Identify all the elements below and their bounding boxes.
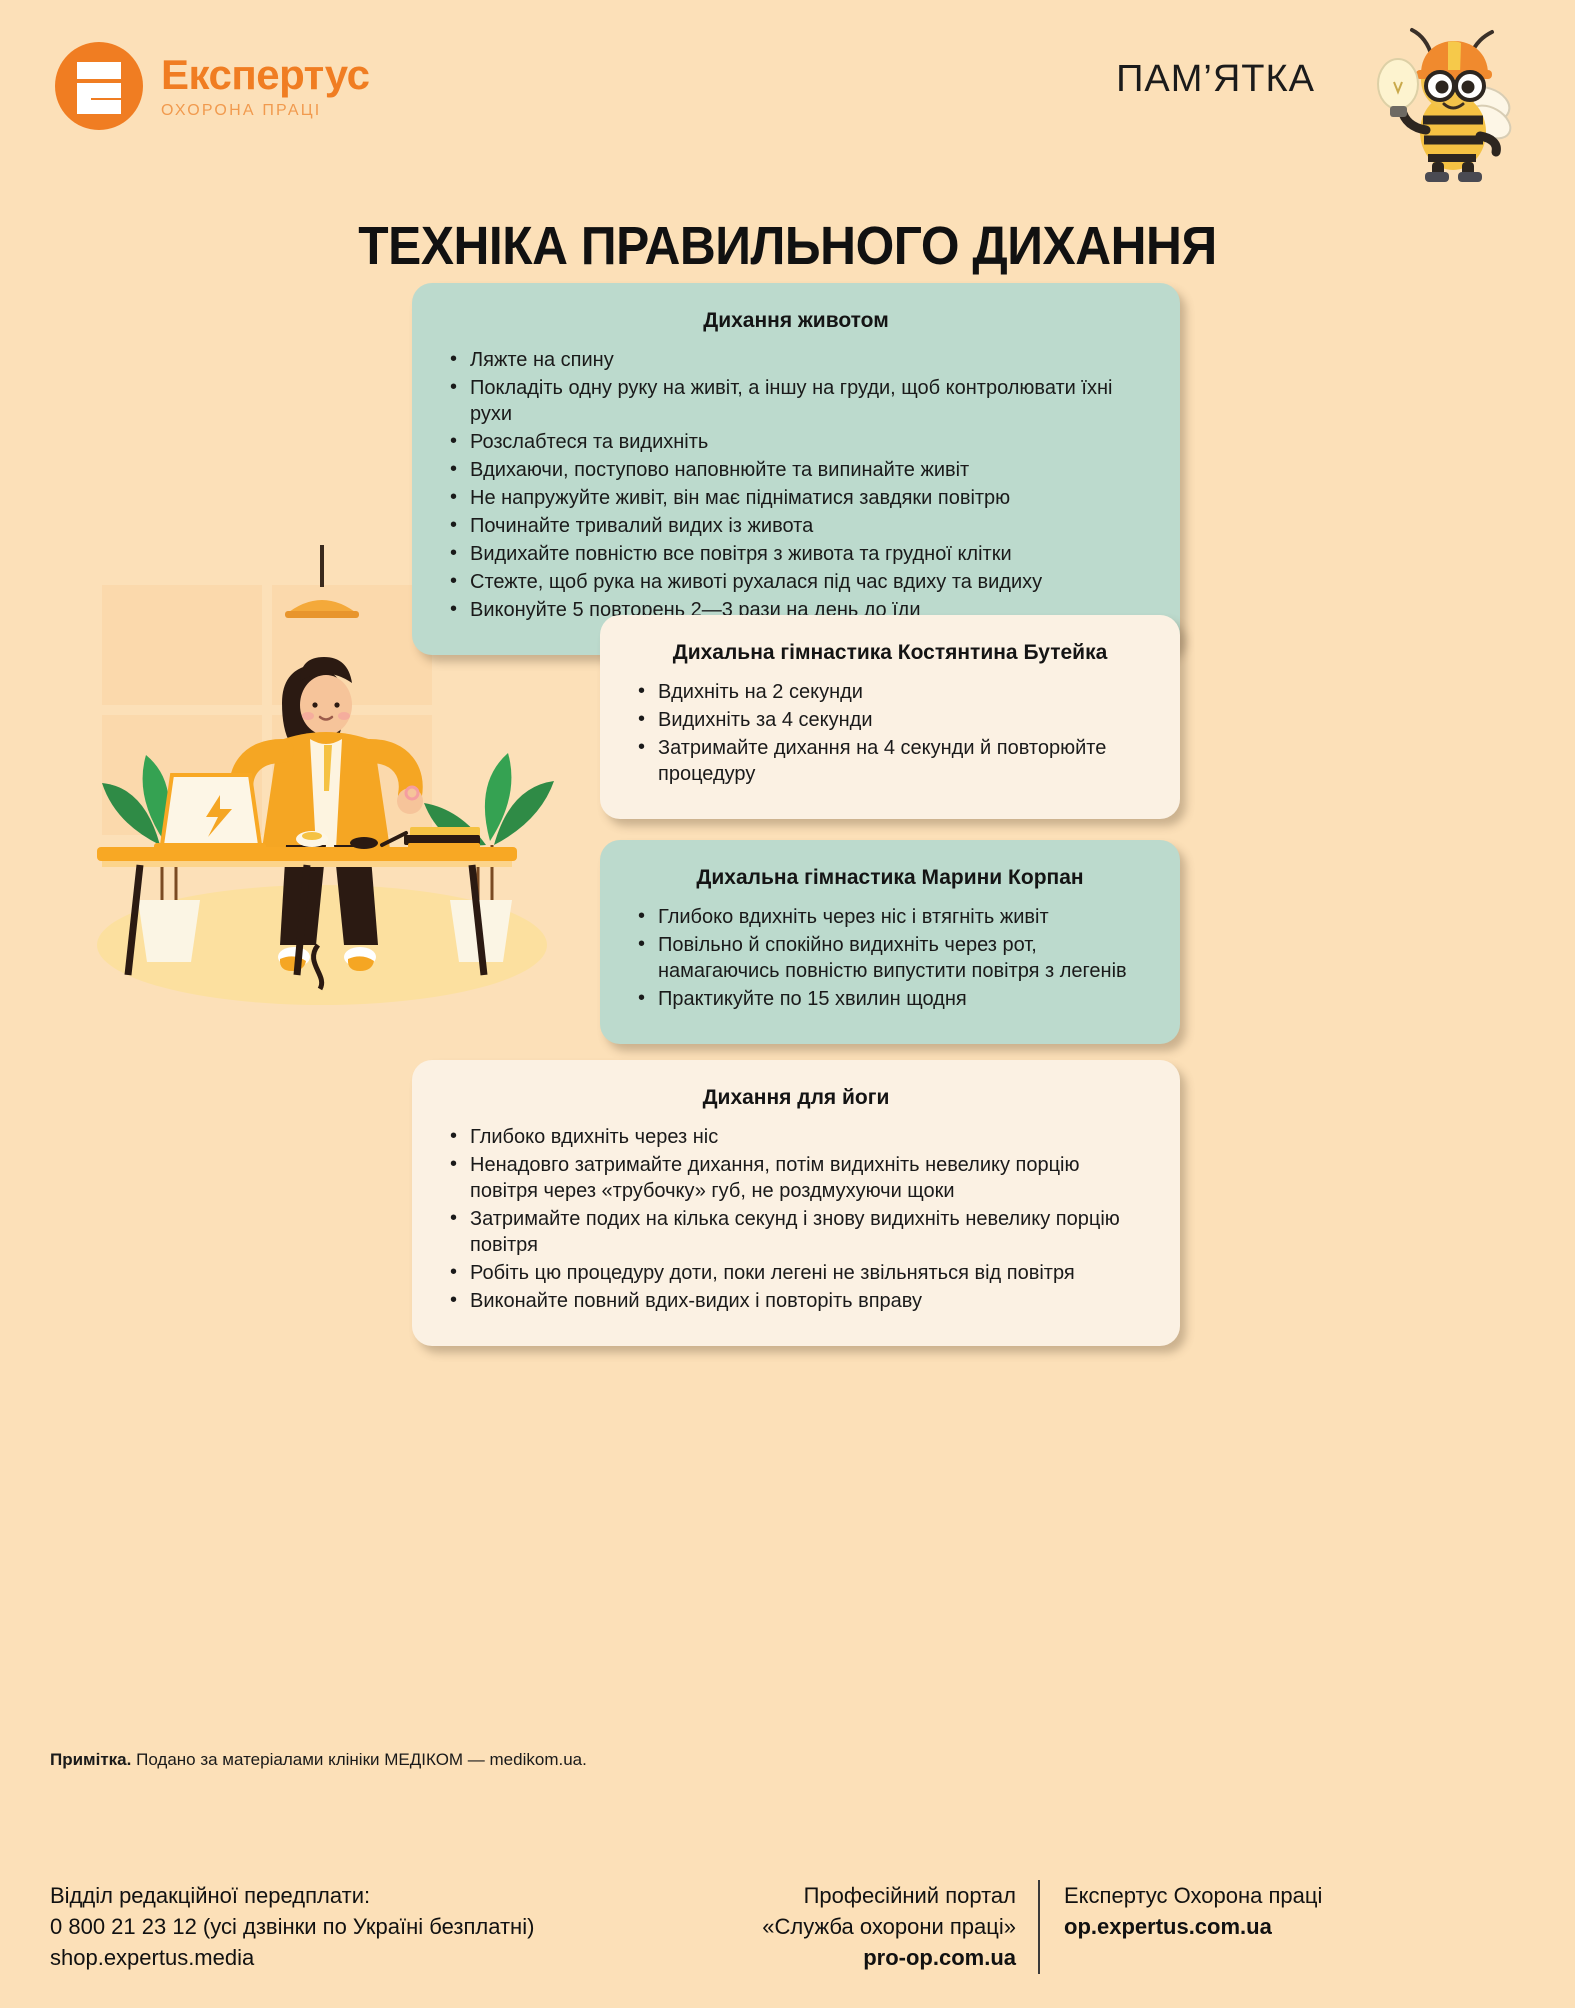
card-heading: Дихальна гімнастика Марини Корпан [634,866,1146,890]
portal-name: «Служба охорони праці» [750,1911,1016,1942]
footer-subscription-column: Відділ редакційної передплати: 0 800 21 … [50,1880,750,1974]
card-heading: Дихальна гімнастика Костянтина Бутейка [634,641,1146,665]
portal-site[interactable]: pro-op.com.ua [750,1942,1016,1973]
list-item: Видихайте повністю все повітря з живота … [446,541,1146,567]
card-bullet-list: Глибоко вдихніть через ніс і втягніть жи… [634,904,1146,1012]
brand-tagline: ОХОРОНА ПРАЦІ [161,103,369,119]
list-item: Практикуйте по 15 хвилин щодня [634,986,1146,1012]
list-item: Затримайте подих на кілька секунд і знов… [446,1206,1146,1258]
list-item: Ненадовго затримайте дихання, потім види… [446,1152,1146,1204]
subscription-site[interactable]: shop.expertus.media [50,1942,750,1973]
card-buteyko-gymnastics: Дихальна гімнастика Костянтина Бутейка В… [600,615,1180,819]
card-bullet-list: Глибоко вдихніть через ніс Ненадовго зат… [446,1124,1146,1314]
expertus-site[interactable]: op.expertus.com.ua [1064,1911,1322,1942]
brand-logo[interactable]: Експертус ОХОРОНА ПРАЦІ [55,42,369,130]
list-item: Робіть цю процедуру доти, поки легені не… [446,1260,1146,1286]
subscription-title: Відділ редакційної передплати: [50,1880,750,1911]
card-heading: Дихання для йоги [446,1086,1146,1110]
list-item: Глибоко вдихніть через ніс [446,1124,1146,1150]
note-label: Примітка. [50,1750,131,1769]
list-item: Повільно й спокійно видихніть через рот,… [634,932,1146,984]
list-item: Вдихніть на 2 секунди [634,679,1146,705]
list-item: Виконайте повний вдих-видих і повторіть … [446,1288,1146,1314]
footer-expertus-column: Експертус Охорона праці op.expertus.com.… [1040,1880,1322,1974]
list-item: Видихніть за 4 секунди [634,707,1146,733]
expertus-label: Експертус Охорона праці [1064,1880,1322,1911]
card-bullet-list: Ляжте на спину Покладіть одну руку на жи… [446,347,1146,623]
list-item: Затримайте дихання на 4 секунди й повтор… [634,735,1146,787]
card-belly-breathing: Дихання животом Ляжте на спину Покладіть… [412,283,1180,655]
list-item: Не напружуйте живіт, він має підніматися… [446,485,1146,511]
page-header: Експертус ОХОРОНА ПРАЦІ ПАМ’ЯТКА [0,0,1575,190]
brand-name: Експертус [161,54,369,96]
page-title: ТЕХНІКА ПРАВИЛЬНОГО ДИХАННЯ [63,215,1512,277]
card-heading: Дихання животом [446,309,1146,333]
subscription-phone: 0 800 21 23 12 (усі дзвінки по Україні б… [50,1911,750,1942]
card-yoga-breathing: Дихання для йоги Глибоко вдихніть через … [412,1060,1180,1346]
list-item: Ляжте на спину [446,347,1146,373]
list-item: Глибоко вдихніть через ніс і втягніть жи… [634,904,1146,930]
card-bullet-list: Вдихніть на 2 секунди Видихніть за 4 сек… [634,679,1146,787]
expertus-e-mark-icon [55,42,143,130]
footer-portal-column: Професійний портал «Служба охорони праці… [750,1880,1040,1974]
portal-label: Професійний портал [750,1880,1016,1911]
memo-badge: ПАМ’ЯТКА [1116,58,1315,101]
source-note: Примітка. Подано за матеріалами клініки … [50,1750,587,1770]
page-footer: Відділ редакційної передплати: 0 800 21 … [50,1880,1530,1974]
list-item: Стежте, щоб рука на животі рухалася під … [446,569,1146,595]
list-item: Вдихаючи, поступово наповнюйте та випина… [446,457,1146,483]
list-item: Розслабтеся та видихніть [446,429,1146,455]
bee-with-lightbulb-mascot-icon [1320,12,1520,182]
note-text: Подано за матеріалами клініки МЕДІКОМ — … [131,1750,586,1769]
card-korpan-gymnastics: Дихальна гімнастика Марини Корпан Глибок… [600,840,1180,1044]
list-item: Покладіть одну руку на живіт, а іншу на … [446,375,1146,427]
list-item: Починайте тривалий видих із живота [446,513,1146,539]
